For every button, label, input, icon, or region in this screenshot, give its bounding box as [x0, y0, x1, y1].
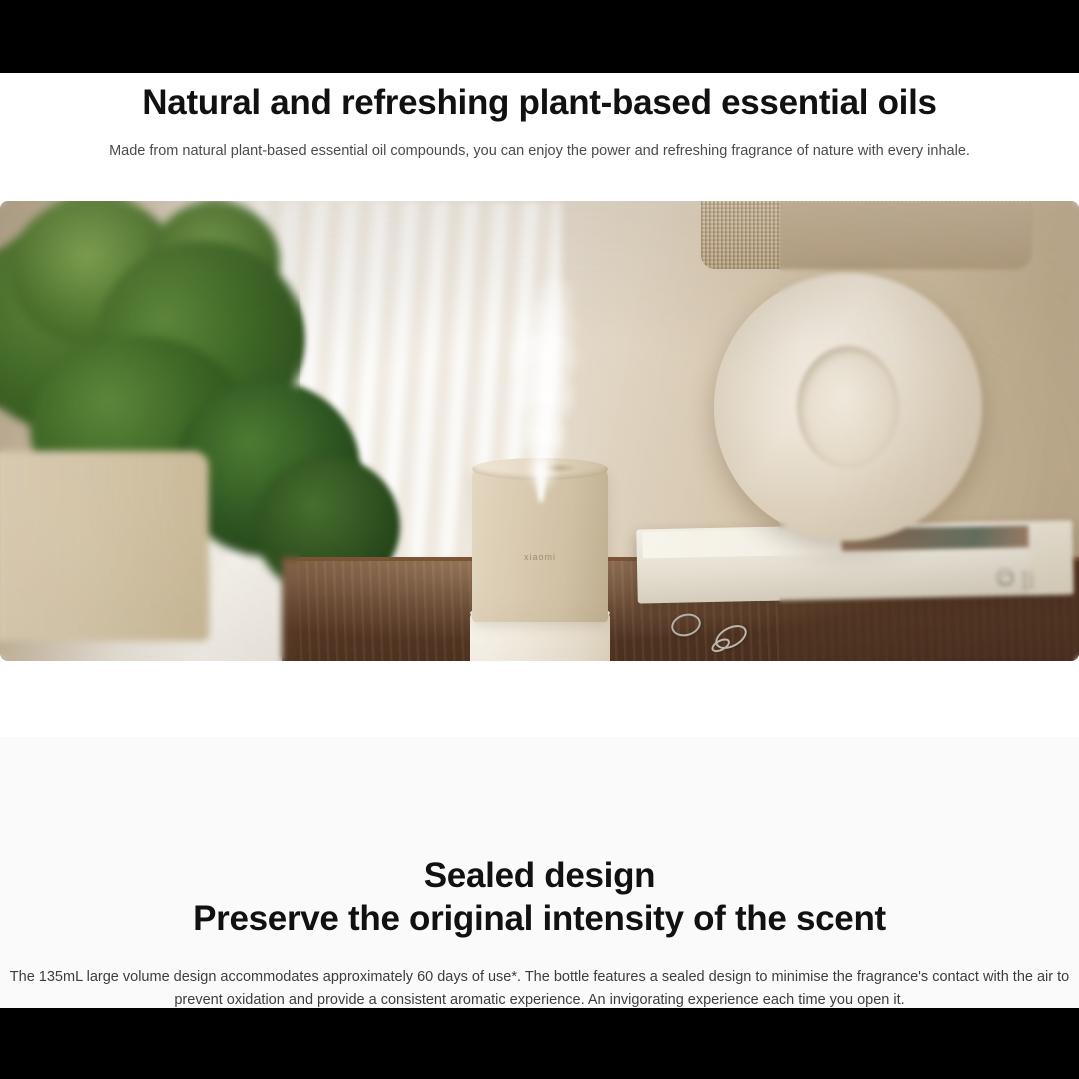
product-page: Natural and refreshing plant-based essen…: [0, 0, 1079, 1079]
letterbox-top-bar: [0, 0, 1079, 73]
essential-oils-heading: Natural and refreshing plant-based essen…: [0, 73, 1079, 127]
sealed-design-subheading: The 135mL large volume design accommodat…: [0, 966, 1079, 1011]
hero-vignette: [0, 201, 1079, 661]
essential-oils-subheading: Made from natural plant-based essential …: [0, 141, 1079, 163]
sealed-design-heading: Sealed design Preserve the original inte…: [0, 855, 1079, 940]
letterbox-bottom-bar: [0, 1008, 1079, 1079]
sealed-heading-line-2: Preserve the original intensity of the s…: [193, 899, 886, 938]
hero-product-image: LOVE BOOK Scent Diffuser Refill Forest a…: [0, 201, 1079, 661]
section-essential-oils: Natural and refreshing plant-based essen…: [0, 73, 1079, 737]
sealed-heading-line-1: Sealed design: [424, 856, 655, 895]
section-sealed-design: Sealed design Preserve the original inte…: [0, 737, 1079, 1008]
hero-scene: LOVE BOOK Scent Diffuser Refill Forest a…: [0, 201, 1079, 661]
